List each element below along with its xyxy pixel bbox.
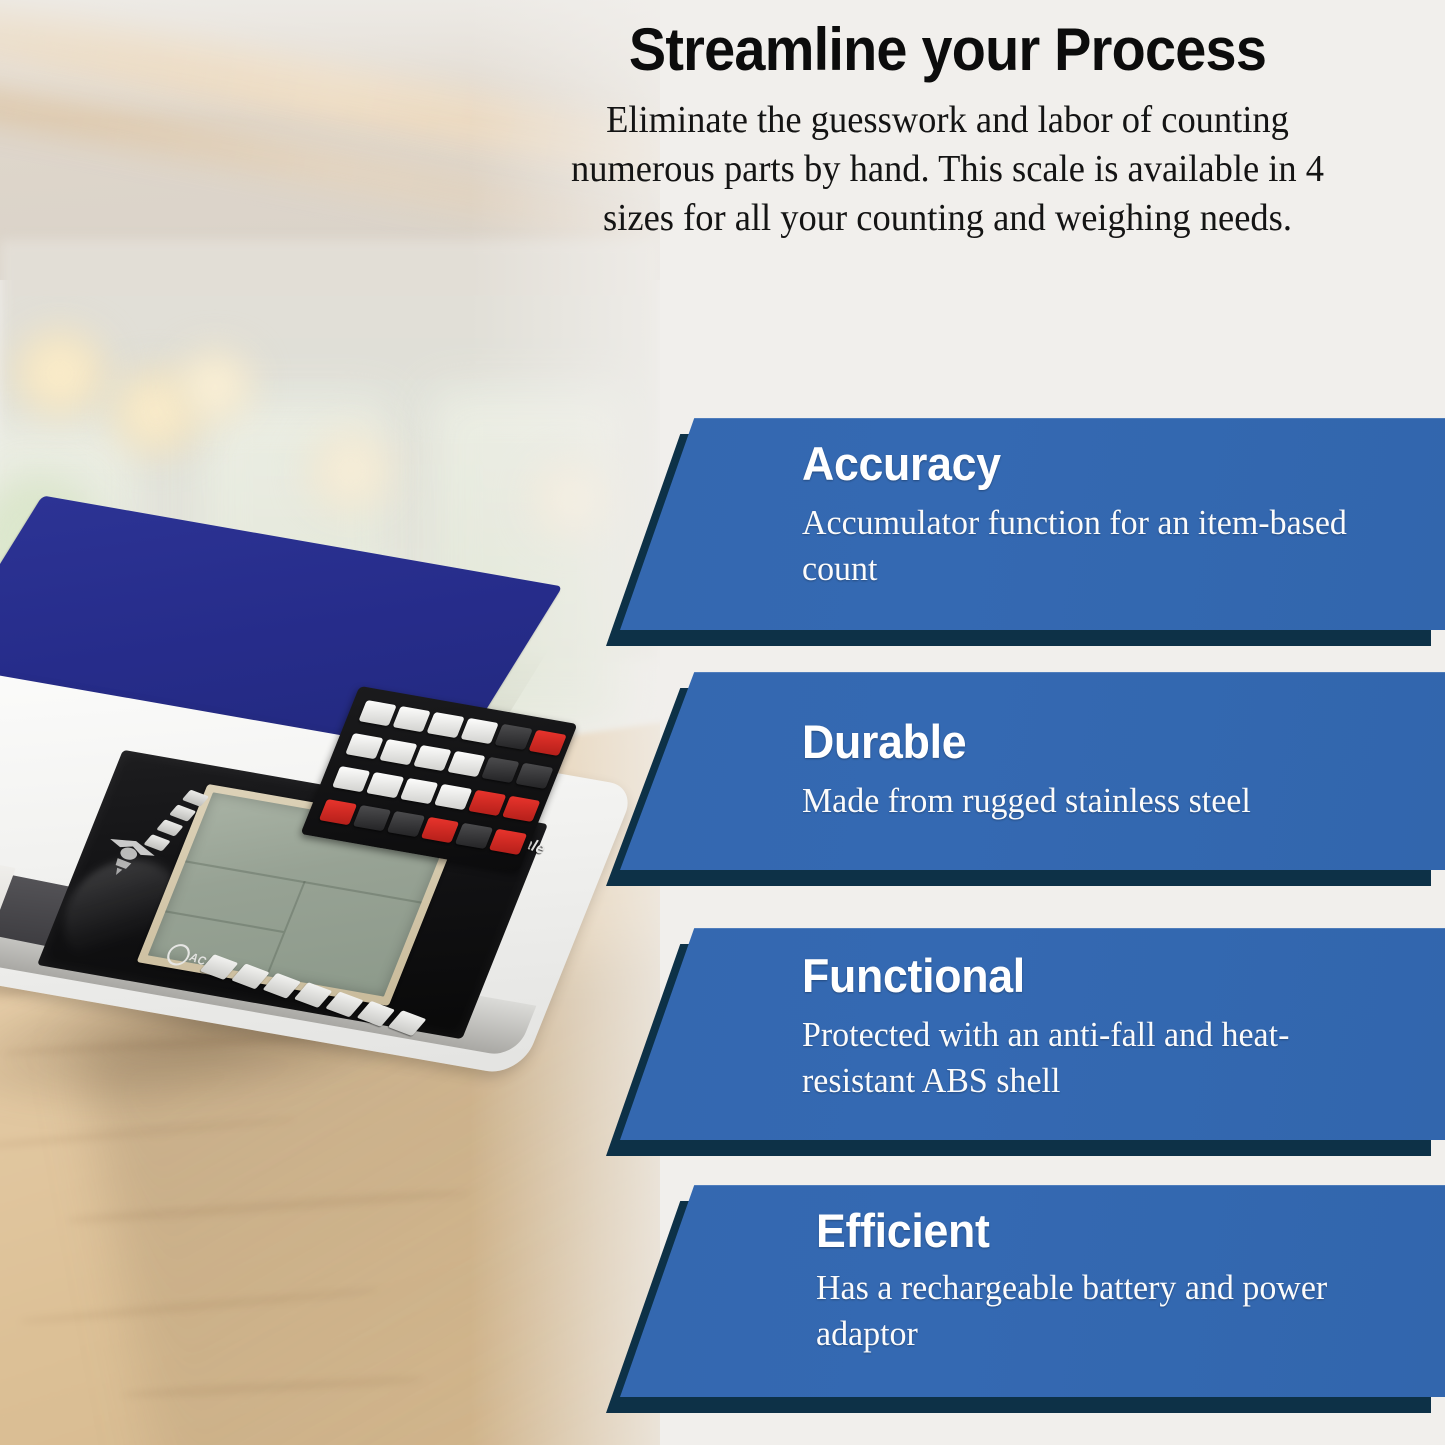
feature-banner-list: Accuracy Accumulator function for an ite… [0,0,1445,1445]
feature-title: Efficient [816,1203,990,1258]
feature-title: Durable [802,714,966,769]
feature-description: Protected with an anti-fall and heat-res… [802,1012,1374,1103]
feature-banner: Efficient Has a rechargeable battery and… [620,1185,1445,1397]
feature-description: Made from rugged stainless steel [802,778,1403,824]
feature-description: Accumulator function for an item-based c… [802,500,1365,591]
feature-banner: Durable Made from rugged stainless steel [620,672,1445,870]
feature-title: Accuracy [802,436,1001,491]
feature-banner: Functional Protected with an anti-fall a… [620,928,1445,1140]
infographic-canvas: High Precision Electronic Scale AC [0,0,1445,1445]
feature-title: Functional [802,948,1025,1003]
feature-description: Has a rechargeable battery and power ada… [816,1265,1398,1356]
feature-banner: Accuracy Accumulator function for an ite… [620,418,1445,630]
